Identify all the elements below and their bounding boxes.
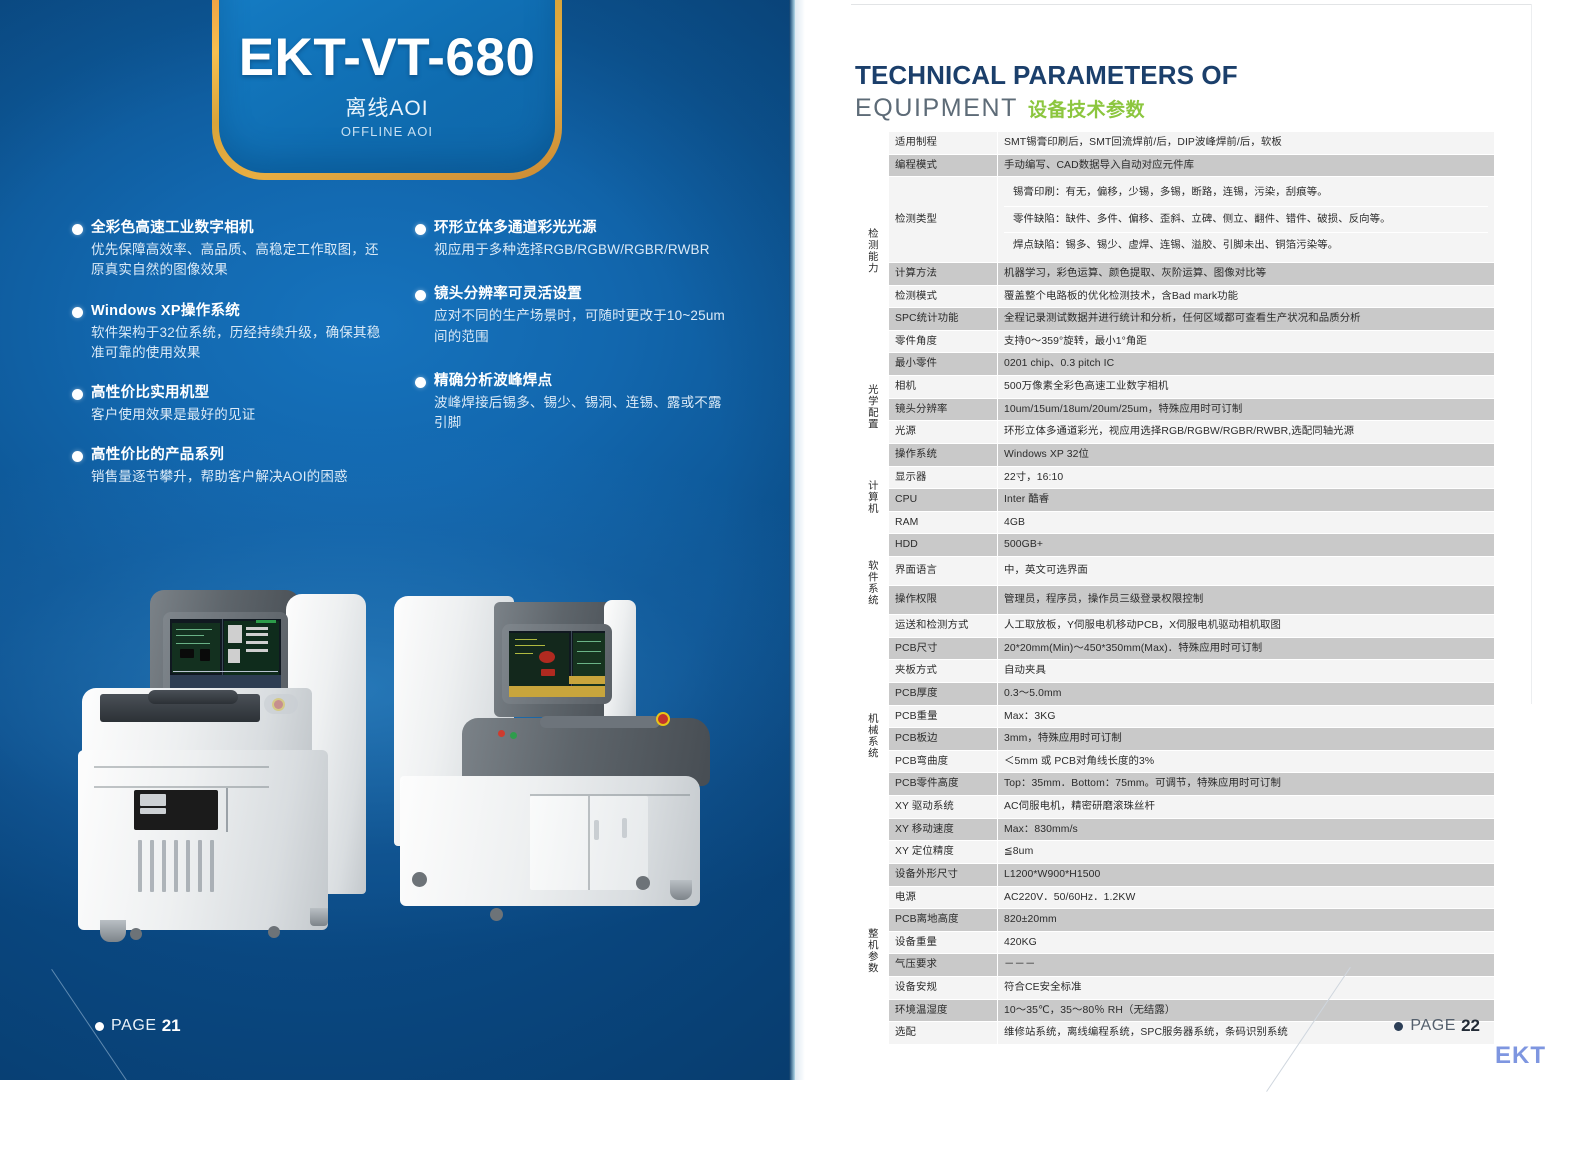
table-key-cell: PCB厚度 (889, 683, 998, 706)
table-row: 软件系统界面语言中，英文可选界面 (854, 556, 1495, 585)
table-row: XY 定位精度≦8um (854, 841, 1495, 864)
table-row: PCB弯曲度＜5mm 或 PCB对角线长度的3% (854, 750, 1495, 773)
table-category-cell: 软件系统 (854, 556, 889, 614)
feature-title: 镜头分辨率可灵活设置 (434, 284, 732, 305)
table-value-cell: 自动夹具 (998, 660, 1495, 683)
table-row: 检测能力适用制程SMT锡膏印刷后，SMT回流焊前/后，DIP波峰焊前/后，软板 (854, 132, 1495, 155)
table-row: 计算方法机器学习，彩色运算、颜色提取、灰阶运算、图像对比等 (854, 263, 1495, 286)
table-key-cell: 设备重量 (889, 931, 998, 954)
table-value-cell: 0.3～5.0mm (998, 683, 1495, 706)
table-value-cell: 支持0～359°旋转，最小1°角距 (998, 330, 1495, 353)
table-value-cell: 22寸，16:10 (998, 466, 1495, 489)
table-value-cell: Inter 酷睿 (998, 489, 1495, 512)
feature-list: 全彩色高速工业数字相机 优先保障高效率、高品质、高稳定工作取图，还原真实自然的图… (72, 218, 732, 508)
table-row: PCB厚度0.3～5.0mm (854, 683, 1495, 706)
table-category-label: 检测能力 (865, 228, 877, 274)
table-value-cell: Max：3KG (998, 705, 1495, 728)
table-row: HDD500GB+ (854, 534, 1495, 557)
table-row: 光学配置相机500万像素全彩色高速工业数字相机 (854, 376, 1495, 399)
table-key-cell: HDD (889, 534, 998, 557)
table-key-cell: 运送和检测方式 (889, 615, 998, 638)
table-key-cell: 夹板方式 (889, 660, 998, 683)
feature-item: 精确分析波峰焊点 波峰焊接后锡多、锡少、锡洞、连锡、露或不露引脚 (415, 371, 732, 434)
table-key-cell: PCB离地高度 (889, 909, 998, 932)
feature-item: 镜头分辨率可灵活设置 应对不同的生产场景时，可随时更改于10~25um间的范围 (415, 284, 732, 347)
table-row: 电源AC220V．50/60Hz．1.2KW (854, 886, 1495, 909)
table-value-cell: 4GB (998, 511, 1495, 534)
table-key-cell: 相机 (889, 376, 998, 399)
table-row: XY 移动速度Max：830mm/s (854, 818, 1495, 841)
table-row: 编程模式手动编写、CAD数据导入自动对应元件库 (854, 154, 1495, 177)
table-key-cell: 操作系统 (889, 443, 998, 466)
feature-body: 应对不同的生产场景时，可随时更改于10~25um间的范围 (434, 306, 732, 347)
product-photos (60, 560, 760, 970)
table-value-cell: －－－ (998, 954, 1495, 977)
feature-column-right: 环形立体多通道彩光光源 视应用于多种选择RGB/RGBW/RGBR/RWBR 镜… (415, 218, 732, 508)
table-row: 检测类型锡膏印刷：有无，偏移，少锡，多锡，断路，连锡，污染，刮痕等。零件缺陷：缺… (854, 177, 1495, 263)
bullet-dot-icon (415, 224, 426, 235)
table-row: 气压要求－－－ (854, 954, 1495, 977)
product-title-badge: EKT-VT-680 离线AOI OFFLINE AOI (212, 0, 562, 180)
feature-body: 波峰焊接后锡多、锡少、锡洞、连锡、露或不露引脚 (434, 393, 732, 434)
product-subtitle-en: OFFLINE AOI (341, 124, 433, 139)
table-key-cell: 设备外形尺寸 (889, 863, 998, 886)
page-dot-icon (95, 1022, 104, 1031)
table-key-cell: 操作权限 (889, 586, 998, 615)
table-key-cell: 镜头分辨率 (889, 398, 998, 421)
bullet-dot-icon (415, 377, 426, 388)
table-value-cell: L1200*W900*H1500 (998, 863, 1495, 886)
table-value-cell: 全程记录测试数据并进行统计和分析，任何区域都可查看生产状况和品质分析 (998, 308, 1495, 331)
table-value-cell: 覆盖整个电路板的优化检测技术，含Bad mark功能 (998, 285, 1495, 308)
table-category-cell: 计算机 (854, 443, 889, 556)
table-row: PCB尺寸20*20mm(Min)～450*350mm(Max)．特殊应用时可订… (854, 637, 1495, 660)
machine-photo-angled (390, 580, 720, 950)
table-category-cell: 整机参数 (854, 863, 889, 1044)
feature-body: 软件架构于32位系统，历经持续升级，确保其稳准可靠的使用效果 (91, 323, 389, 364)
table-category-label: 计算机 (865, 480, 877, 514)
table-value-cell: Windows XP 32位 (998, 443, 1495, 466)
table-category-label: 光学配置 (865, 384, 877, 430)
page-number: 21 (162, 1016, 181, 1036)
table-category-cell: 检测能力 (854, 132, 889, 376)
table-row: XY 驱动系统AC伺服电机，精密研磨滚珠丝杆 (854, 796, 1495, 819)
table-key-cell: XY 移动速度 (889, 818, 998, 841)
table-value-cell: ≦8um (998, 841, 1495, 864)
table-key-cell: 界面语言 (889, 556, 998, 585)
specification-table: 检测能力适用制程SMT锡膏印刷后，SMT回流焊前/后，DIP波峰焊前/后，软板编… (853, 131, 1495, 1045)
table-value-cell: Max：830mm/s (998, 818, 1495, 841)
table-value-cell: 20*20mm(Min)～450*350mm(Max)．特殊应用时可订制 (998, 637, 1495, 660)
table-value-line: 锡膏印刷：有无，偏移，少锡，多锡，断路，连锡，污染，刮痕等。 (1004, 180, 1488, 206)
table-key-cell: PCB尺寸 (889, 637, 998, 660)
feature-title: 环形立体多通道彩光光源 (434, 218, 732, 239)
table-row: 计算机操作系统Windows XP 32位 (854, 443, 1495, 466)
bullet-dot-icon (72, 307, 83, 318)
feature-body: 销售量逐节攀升，帮助客户解决AOI的困惑 (91, 467, 389, 487)
table-row: 零件角度支持0～359°旋转，最小1°角距 (854, 330, 1495, 353)
table-value-cell: 管理员，程序员，操作员三级登录权限控制 (998, 586, 1495, 615)
bullet-dot-icon (72, 389, 83, 400)
table-row: 设备重量420KG (854, 931, 1495, 954)
table-value-cell: 10um/15um/18um/20um/25um，特殊应用时可订制 (998, 398, 1495, 421)
badge-inner-panel: EKT-VT-680 离线AOI OFFLINE AOI (219, 0, 555, 173)
table-row: PCB离地高度820±20mm (854, 909, 1495, 932)
feature-body: 视应用于多种选择RGB/RGBW/RGBR/RWBR (434, 240, 732, 260)
table-category-label: 软件系统 (865, 560, 877, 606)
table-value-cell: ＜5mm 或 PCB对角线长度的3% (998, 750, 1495, 773)
feature-title: 精确分析波峰焊点 (434, 371, 732, 392)
page-number: 22 (1461, 1016, 1480, 1036)
table-value-cell: AC伺服电机，精密研磨滚珠丝杆 (998, 796, 1495, 819)
feature-body: 客户使用效果是最好的见证 (91, 405, 389, 425)
table-key-cell: XY 驱动系统 (889, 796, 998, 819)
table-key-cell: 编程模式 (889, 154, 998, 177)
table-row: 显示器22寸，16:10 (854, 466, 1495, 489)
feature-item: Windows XP操作系统 软件架构于32位系统，历经持续升级，确保其稳准可靠… (72, 301, 389, 364)
table-value-line: 焊点缺陷：锡多、锡少、虚焊、连锡、溢胶、引脚未出、铜箔污染等。 (1004, 232, 1488, 259)
machine-photo-front (78, 590, 378, 950)
table-key-cell: 适用制程 (889, 132, 998, 155)
table-value-cell: AC220V．50/60Hz．1.2KW (998, 886, 1495, 909)
table-value-cell: 人工取放板，Y伺服电机移动PCB，X伺服电机驱动相机取图 (998, 615, 1495, 638)
table-value-cell: 机器学习，彩色运算、颜色提取、灰阶运算、图像对比等 (998, 263, 1495, 286)
table-value-cell: 符合CE安全标准 (998, 976, 1495, 999)
table-row: SPC统计功能全程记录测试数据并进行统计和分析，任何区域都可查看生产状况和品质分… (854, 308, 1495, 331)
section-heading: TECHNICAL PARAMETERS OF EQUIPMENT 设备技术参数 (855, 60, 1238, 123)
table-key-cell: 气压要求 (889, 954, 998, 977)
feature-title: 高性价比实用机型 (91, 383, 389, 404)
table-row: PCB重量Max：3KG (854, 705, 1495, 728)
table-row: 光源环形立体多通道彩光，视应用选择RGB/RGBW/RGBR/RWBR,选配同轴… (854, 421, 1495, 444)
table-category-cell: 光学配置 (854, 376, 889, 444)
table-row: 最小零件0201 chip、0.3 pitch IC (854, 353, 1495, 376)
page-gutter-shadow (795, 0, 805, 1080)
page-label: PAGE (111, 1017, 157, 1035)
table-row: 检测模式覆盖整个电路板的优化检测技术，含Bad mark功能 (854, 285, 1495, 308)
table-key-cell: PCB重量 (889, 705, 998, 728)
table-key-cell: PCB板边 (889, 728, 998, 751)
table-key-cell: 选配 (889, 1022, 998, 1045)
table-value-cell: 手动编写、CAD数据导入自动对应元件库 (998, 154, 1495, 177)
table-value-cell: 锡膏印刷：有无，偏移，少锡，多锡，断路，连锡，污染，刮痕等。零件缺陷：缺件、多件… (998, 177, 1495, 263)
page-dot-icon (1394, 1022, 1403, 1031)
table-value-cell: SMT锡膏印刷后，SMT回流焊前/后，DIP波峰焊前/后，软板 (998, 132, 1495, 155)
table-row: RAM4GB (854, 511, 1495, 534)
table-key-cell: XY 定位精度 (889, 841, 998, 864)
table-key-cell: 零件角度 (889, 330, 998, 353)
heading-line-2-cn: 设备技术参数 (1028, 95, 1145, 122)
table-row: CPUInter 酷睿 (854, 489, 1495, 512)
table-category-label: 整机参数 (865, 928, 877, 974)
table-value-line: 零件缺陷：缺件、多件、偏移、歪斜、立碑、侧立、翻件、错件、破损、反向等。 (1004, 206, 1488, 233)
table-key-cell: 电源 (889, 886, 998, 909)
bullet-dot-icon (72, 224, 83, 235)
table-value-cell: 3mm，特殊应用时可订制 (998, 728, 1495, 751)
table-row: 操作权限管理员，程序员，操作员三级登录权限控制 (854, 586, 1495, 615)
bullet-dot-icon (72, 451, 83, 462)
feature-body: 优先保障高效率、高品质、高稳定工作取图，还原真实自然的图像效果 (91, 240, 389, 281)
table-key-cell: 环境温湿度 (889, 999, 998, 1022)
brochure-spread: EKT-VT-680 离线AOI OFFLINE AOI 全彩色高速工业数字相机… (0, 0, 1590, 1080)
table-key-cell: PCB零件高度 (889, 773, 998, 796)
feature-item: 高性价比的产品系列 销售量逐节攀升，帮助客户解决AOI的困惑 (72, 445, 389, 487)
table-row: PCB板边3mm，特殊应用时可订制 (854, 728, 1495, 751)
table-category-label: 机械系统 (865, 713, 877, 759)
table-key-cell: 显示器 (889, 466, 998, 489)
feature-title: 全彩色高速工业数字相机 (91, 218, 389, 239)
page-footer-left: PAGE 21 (95, 1016, 181, 1036)
bullet-dot-icon (415, 290, 426, 301)
table-row: PCB零件高度Top：35mm．Bottom：75mm。可调节，特殊应用时可订制 (854, 773, 1495, 796)
page-border-top (851, 4, 1532, 5)
feature-item: 全彩色高速工业数字相机 优先保障高效率、高品质、高稳定工作取图，还原真实自然的图… (72, 218, 389, 281)
table-row: 镜头分辨率10um/15um/18um/20um/25um，特殊应用时可订制 (854, 398, 1495, 421)
table-key-cell: 计算方法 (889, 263, 998, 286)
table-key-cell: 检测类型 (889, 177, 998, 263)
table-key-cell: CPU (889, 489, 998, 512)
table-value-cell: 820±20mm (998, 909, 1495, 932)
table-value-cell: 0201 chip、0.3 pitch IC (998, 353, 1495, 376)
page-footer-right: PAGE 22 (1394, 1016, 1480, 1036)
page-label: PAGE (1410, 1017, 1456, 1035)
spec-table-body: 检测能力适用制程SMT锡膏印刷后，SMT回流焊前/后，DIP波峰焊前/后，软板编… (854, 132, 1495, 1045)
table-row: 机械系统运送和检测方式人工取放板，Y伺服电机移动PCB，X伺服电机驱动相机取图 (854, 615, 1495, 638)
table-value-cell: Top：35mm．Bottom：75mm。可调节，特殊应用时可订制 (998, 773, 1495, 796)
table-key-cell: 设备安规 (889, 976, 998, 999)
page-border-right (1531, 4, 1532, 704)
table-key-cell: SPC统计功能 (889, 308, 998, 331)
machine-display (509, 631, 605, 697)
heading-line-1: TECHNICAL PARAMETERS OF (855, 60, 1238, 91)
table-key-cell: 光源 (889, 421, 998, 444)
table-key-cell: 最小零件 (889, 353, 998, 376)
feature-item: 高性价比实用机型 客户使用效果是最好的见证 (72, 383, 389, 425)
brand-logo: EKT (1495, 1042, 1546, 1070)
feature-title: Windows XP操作系统 (91, 301, 389, 322)
right-page: TECHNICAL PARAMETERS OF EQUIPMENT 设备技术参数… (795, 0, 1590, 1080)
table-value-cell: 环形立体多通道彩光，视应用选择RGB/RGBW/RGBR/RWBR,选配同轴光源 (998, 421, 1495, 444)
table-row: 整机参数设备外形尺寸L1200*W900*H1500 (854, 863, 1495, 886)
table-value-cell: 500GB+ (998, 534, 1495, 557)
table-row: 夹板方式自动夹具 (854, 660, 1495, 683)
table-key-cell: 检测模式 (889, 285, 998, 308)
table-value-cell: 500万像素全彩色高速工业数字相机 (998, 376, 1495, 399)
table-value-cell: 中，英文可选界面 (998, 556, 1495, 585)
table-row: 设备安规符合CE安全标准 (854, 976, 1495, 999)
feature-column-left: 全彩色高速工业数字相机 优先保障高效率、高品质、高稳定工作取图，还原真实自然的图… (72, 218, 389, 508)
product-model-title: EKT-VT-680 (239, 31, 536, 84)
feature-title: 高性价比的产品系列 (91, 445, 389, 466)
table-key-cell: PCB弯曲度 (889, 750, 998, 773)
table-category-cell: 机械系统 (854, 615, 889, 864)
machine-display (170, 619, 281, 691)
feature-item: 环形立体多通道彩光光源 视应用于多种选择RGB/RGBW/RGBR/RWBR (415, 218, 732, 260)
product-subtitle-cn: 离线AOI (345, 96, 428, 122)
heading-line-2-en: EQUIPMENT (855, 94, 1018, 123)
left-page: EKT-VT-680 离线AOI OFFLINE AOI 全彩色高速工业数字相机… (0, 0, 795, 1080)
table-value-cell: 420KG (998, 931, 1495, 954)
table-key-cell: RAM (889, 511, 998, 534)
